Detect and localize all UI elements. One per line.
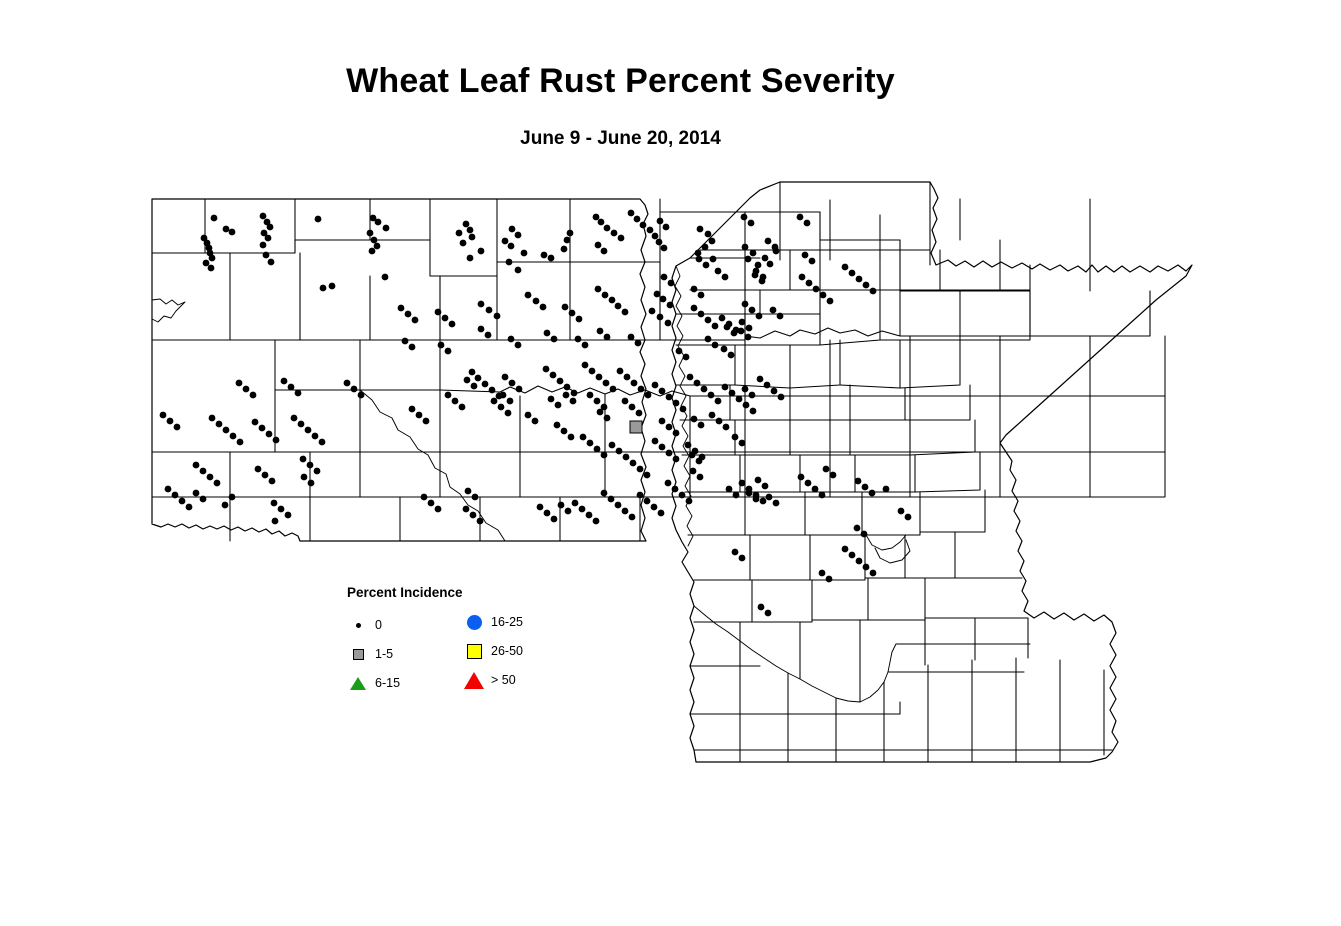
survey-point-zero xyxy=(551,336,558,343)
survey-point-zero xyxy=(658,510,665,517)
survey-point-zero xyxy=(728,352,735,359)
survey-point-zero xyxy=(805,480,812,487)
mn-county-line-n17 xyxy=(960,290,1030,340)
survey-point-zero xyxy=(412,317,419,324)
survey-point-zero xyxy=(358,392,365,399)
mn-county-line-n42 xyxy=(920,490,985,532)
survey-point-zero xyxy=(557,378,564,385)
survey-point-zero xyxy=(230,433,237,440)
survey-point-zero xyxy=(179,498,186,505)
survey-point-zero xyxy=(651,504,658,511)
survey-point-zero xyxy=(719,315,726,322)
survey-point-zero xyxy=(813,286,820,293)
survey-point-zero xyxy=(732,434,739,441)
survey-point-zero xyxy=(570,398,577,405)
survey-point-zero xyxy=(469,369,476,376)
survey-point-zero xyxy=(716,418,723,425)
nd-county-line-h35 xyxy=(520,452,605,497)
survey-point-zero xyxy=(745,256,752,263)
nd-county-line-h19 xyxy=(275,390,360,452)
survey-point-zero xyxy=(229,229,236,236)
survey-point-zero xyxy=(812,486,819,493)
survey-point-zero xyxy=(475,375,482,382)
survey-point-zero xyxy=(601,490,608,497)
survey-point-zero xyxy=(750,250,757,257)
legend-title: Percent Incidence xyxy=(347,585,577,600)
survey-point-zero xyxy=(771,388,778,395)
survey-point-zero xyxy=(635,340,642,347)
survey-point-zero xyxy=(611,230,618,237)
survey-point-zero xyxy=(521,250,528,257)
survey-point-zero xyxy=(467,255,474,262)
survey-point-zero xyxy=(459,404,466,411)
survey-point-zero xyxy=(456,230,463,237)
survey-point-zero xyxy=(409,406,416,413)
survey-point-zero xyxy=(746,325,753,332)
nd-county-line-h31 xyxy=(230,452,310,497)
survey-point-zero xyxy=(471,383,478,390)
survey-point-zero xyxy=(269,478,276,485)
survey-point-zero xyxy=(656,239,663,246)
survey-point-zero xyxy=(548,255,555,262)
survey-point-zero xyxy=(702,244,709,251)
survey-point-zero xyxy=(271,500,278,507)
survey-point-zero xyxy=(705,336,712,343)
survey-point-zero xyxy=(472,494,479,501)
survey-point-zero xyxy=(629,404,636,411)
survey-point-zero xyxy=(726,486,733,493)
survey-point-zero xyxy=(208,265,215,272)
survey-point-zero xyxy=(652,233,659,240)
survey-point-zero xyxy=(478,301,485,308)
mn-county-line-n49 xyxy=(694,580,752,622)
survey-point-zero xyxy=(640,222,647,229)
legend-item-over-50[interactable]: > 50 xyxy=(463,671,516,689)
survey-point-zero xyxy=(281,378,288,385)
legend-label-1-5: 1-5 xyxy=(375,647,393,661)
survey-point-zero xyxy=(435,506,442,513)
nd-county-line-h39 xyxy=(830,452,910,497)
survey-point-zero xyxy=(672,486,679,493)
mn-county-line-n27 xyxy=(905,385,970,420)
survey-point-zero xyxy=(266,431,273,438)
small-black-dot-icon xyxy=(347,623,369,628)
survey-point-zero xyxy=(698,422,705,429)
nd-county-line-h42 xyxy=(1090,452,1165,497)
survey-point-zero xyxy=(742,244,749,251)
survey-point-zero xyxy=(826,576,833,583)
survey-point-zero xyxy=(709,238,716,245)
nd-county-line-h26 xyxy=(830,396,910,452)
survey-point-zero xyxy=(298,421,305,428)
legend-label-over-50: > 50 xyxy=(491,673,516,687)
survey-point-zero xyxy=(374,243,381,250)
mn-county-line-n16 xyxy=(880,290,960,340)
survey-point-zero xyxy=(262,472,269,479)
survey-point-zero xyxy=(696,256,703,263)
survey-point-zero xyxy=(214,480,221,487)
survey-point-zero xyxy=(603,380,610,387)
survey-point-zero xyxy=(562,304,569,311)
survey-point-zero xyxy=(597,328,604,335)
survey-point-zero xyxy=(463,221,470,228)
survey-point-zero xyxy=(505,410,512,417)
survey-point-zero xyxy=(724,324,731,331)
survey-point-zero xyxy=(705,317,712,324)
nd-county-line-h30 xyxy=(152,452,230,497)
mn-county-line-n40 xyxy=(805,492,862,535)
survey-point-zero xyxy=(856,276,863,283)
survey-point-zero xyxy=(300,456,307,463)
survey-point-zero xyxy=(312,433,319,440)
survey-point-zero xyxy=(572,500,579,507)
mn-county-line-n29 xyxy=(735,420,790,455)
legend-item-16-25[interactable]: 16-25 xyxy=(463,613,523,631)
survey-point-zero xyxy=(753,496,760,503)
survey-point-zero xyxy=(673,430,680,437)
survey-point-zero xyxy=(207,474,214,481)
mn-county-line-n20 xyxy=(790,340,840,388)
gray-square-icon xyxy=(347,649,369,660)
survey-point-zero xyxy=(469,234,476,241)
survey-point-zero xyxy=(827,298,834,305)
survey-point-zero xyxy=(582,342,589,349)
survey-point-zero xyxy=(243,386,250,393)
survey-point-zero xyxy=(255,466,262,473)
map-legend: Percent Incidence 0 1-5 6-15 16-25 26-50 xyxy=(347,585,577,701)
survey-point-zero xyxy=(712,342,719,349)
legend-label-26-50: 26-50 xyxy=(491,644,523,658)
survey-point-zero xyxy=(307,462,314,469)
survey-point-zero xyxy=(498,404,505,411)
survey-point-zero xyxy=(604,225,611,232)
survey-point-zero xyxy=(586,512,593,519)
survey-point-zero xyxy=(863,282,870,289)
survey-point-zero xyxy=(739,555,746,562)
survey-point-zero xyxy=(442,315,449,322)
survey-point-zero xyxy=(770,307,777,314)
survey-point-zero xyxy=(618,235,625,242)
survey-point-zero xyxy=(506,259,513,266)
survey-point-zero xyxy=(200,496,207,503)
survey-point-zero xyxy=(601,452,608,459)
survey-point-zero xyxy=(223,427,230,434)
survey-point-zero xyxy=(691,305,698,312)
survey-point-zero xyxy=(203,260,210,267)
survey-point-zero xyxy=(485,332,492,339)
nd-missouri-lower xyxy=(360,390,505,541)
nd-state-outline xyxy=(152,199,648,541)
mn-county-line-n44 xyxy=(750,535,810,580)
survey-point-zero xyxy=(666,450,673,457)
survey-point-zero xyxy=(745,334,752,341)
survey-point-zero xyxy=(222,502,229,509)
survey-point-zero xyxy=(760,498,767,505)
survey-point-zero xyxy=(739,440,746,447)
survey-point-zero xyxy=(367,230,374,237)
survey-point-zero xyxy=(595,242,602,249)
survey-point-zero xyxy=(508,243,515,250)
survey-point-zero xyxy=(543,366,550,373)
survey-point-zero xyxy=(748,220,755,227)
survey-point-zero xyxy=(823,466,830,473)
survey-point-zero xyxy=(460,240,467,247)
survey-point-zero xyxy=(742,386,749,393)
survey-point-zero xyxy=(193,490,200,497)
survey-point-zero xyxy=(502,374,509,381)
survey-point-zero xyxy=(661,274,668,281)
survey-point-zero xyxy=(174,424,181,431)
survey-point-zero xyxy=(758,604,765,611)
legend-item-0[interactable]: 0 xyxy=(347,616,382,634)
survey-point-zero xyxy=(491,398,498,405)
survey-point-zero xyxy=(636,410,643,417)
survey-point-zero xyxy=(721,346,728,353)
survey-point-zero xyxy=(567,230,574,237)
survey-point-zero xyxy=(870,288,877,295)
nd-county-line-h1 xyxy=(152,212,660,276)
survey-point-zero xyxy=(905,514,912,521)
survey-point-zero xyxy=(200,468,207,475)
legend-item-1-5[interactable]: 1-5 xyxy=(347,645,393,663)
survey-point-zero xyxy=(691,416,698,423)
survey-point-zero xyxy=(804,220,811,227)
survey-point-zero xyxy=(160,412,167,419)
nd-county-line-h9 xyxy=(1030,291,1150,336)
survey-point-zero xyxy=(236,380,243,387)
survey-point-zero xyxy=(695,250,702,257)
survey-point-zero xyxy=(659,388,666,395)
nd-county-line-h12 xyxy=(690,340,745,396)
survey-point-zero xyxy=(667,302,674,309)
mn-county-line-n26 xyxy=(850,388,905,420)
mn-county-line-n31 xyxy=(850,420,910,455)
survey-point-zero xyxy=(855,478,862,485)
mn-county-line-n19 xyxy=(735,345,790,388)
mn-county-line-n12 xyxy=(760,290,820,314)
survey-point-zero xyxy=(757,376,764,383)
survey-point-zero xyxy=(172,492,179,499)
survey-point-zero xyxy=(278,506,285,513)
survey-point-zero xyxy=(694,380,701,387)
survey-point-zero xyxy=(320,285,327,292)
survey-point-zero xyxy=(701,386,708,393)
mn-county-line-n24 xyxy=(730,388,790,420)
survey-point-1-5 xyxy=(630,421,642,433)
survey-point-zero xyxy=(622,508,629,515)
survey-point-zero xyxy=(301,474,308,481)
survey-point-zero xyxy=(216,421,223,428)
survey-point-zero xyxy=(209,255,216,262)
nd-county-line-h34 xyxy=(440,452,520,497)
survey-point-zero xyxy=(438,342,445,349)
survey-point-zero xyxy=(723,424,730,431)
survey-point-zero xyxy=(564,384,571,391)
survey-point-zero xyxy=(537,504,544,511)
mn-county-line-n25 xyxy=(790,385,850,420)
survey-point-zero xyxy=(421,494,428,501)
survey-point-zero xyxy=(756,313,763,320)
survey-point-zero xyxy=(862,484,869,491)
survey-point-zero xyxy=(371,237,378,244)
survey-point-zero xyxy=(767,261,774,268)
survey-point-zero xyxy=(273,437,280,444)
survey-point-zero xyxy=(382,274,389,281)
survey-point-zero xyxy=(657,218,664,225)
mn-county-line-n22 xyxy=(900,340,960,388)
survey-point-zero xyxy=(587,440,594,447)
survey-point-zero xyxy=(652,438,659,445)
survey-point-zero xyxy=(409,344,416,351)
survey-point-zero xyxy=(722,274,729,281)
survey-point-zero xyxy=(561,428,568,435)
survey-point-zero xyxy=(470,512,477,519)
survey-point-zero xyxy=(608,496,615,503)
survey-point-zero xyxy=(676,348,683,355)
observation-points-categorized xyxy=(630,421,642,433)
survey-point-zero xyxy=(548,396,555,403)
survey-point-zero xyxy=(703,262,710,269)
survey-point-zero xyxy=(729,390,736,397)
survey-point-zero xyxy=(554,422,561,429)
survey-point-zero xyxy=(842,264,849,271)
nd-county-line-h16 xyxy=(1000,336,1090,396)
survey-point-zero xyxy=(665,320,672,327)
survey-point-zero xyxy=(561,246,568,253)
survey-point-zero xyxy=(423,418,430,425)
mn-county-line-n38 xyxy=(688,492,745,535)
survey-point-zero xyxy=(806,280,813,287)
survey-point-zero xyxy=(563,392,570,399)
survey-point-zero xyxy=(267,224,274,231)
survey-point-zero xyxy=(623,454,630,461)
mn-county-line-n37 xyxy=(915,452,980,492)
mn-county-line-n21 xyxy=(840,340,900,388)
map-page: Wheat Leaf Rust Percent Severity June 9 … xyxy=(0,0,1341,926)
yellow-square-icon xyxy=(463,644,485,659)
survey-point-zero xyxy=(576,316,583,323)
survey-point-zero xyxy=(749,307,756,314)
survey-point-zero xyxy=(544,510,551,517)
survey-point-zero xyxy=(661,245,668,252)
survey-point-zero xyxy=(465,488,472,495)
survey-point-zero xyxy=(344,380,351,387)
survey-point-zero xyxy=(849,270,856,277)
nd-county-line-h5 xyxy=(497,262,660,340)
survey-point-zero xyxy=(736,396,743,403)
survey-point-zero xyxy=(604,334,611,341)
survey-point-zero xyxy=(587,392,594,399)
mn-county-line-n10 xyxy=(940,265,1030,290)
survey-point-zero xyxy=(732,549,739,556)
survey-point-zero xyxy=(507,398,514,405)
survey-point-zero xyxy=(657,314,664,321)
survey-point-zero xyxy=(482,381,489,388)
survey-point-zero xyxy=(666,394,673,401)
survey-point-zero xyxy=(558,502,565,509)
nd-county-line-h33 xyxy=(360,452,440,497)
survey-point-zero xyxy=(288,384,295,391)
survey-point-zero xyxy=(550,372,557,379)
wheat-leaf-rust-map[interactable] xyxy=(0,0,1341,926)
survey-point-zero xyxy=(898,508,905,515)
survey-point-zero xyxy=(663,224,670,231)
survey-point-zero xyxy=(673,456,680,463)
survey-point-zero xyxy=(741,214,748,221)
survey-point-zero xyxy=(628,210,635,217)
survey-point-zero xyxy=(209,415,216,422)
mn-state-outline xyxy=(672,182,1192,762)
survey-point-zero xyxy=(687,374,694,381)
survey-point-zero xyxy=(685,442,692,449)
survey-point-zero xyxy=(731,330,738,337)
survey-point-zero xyxy=(598,219,605,226)
survey-point-zero xyxy=(489,387,496,394)
mn-county-line-n52 xyxy=(868,578,925,620)
survey-point-zero xyxy=(690,468,697,475)
survey-point-zero xyxy=(515,342,522,349)
survey-point-zero xyxy=(405,311,412,318)
survey-point-zero xyxy=(478,326,485,333)
legend-item-6-15[interactable]: 6-15 xyxy=(347,674,400,692)
mn-county-line-n45 xyxy=(810,535,865,580)
legend-label-16-25: 16-25 xyxy=(491,615,523,629)
survey-point-zero xyxy=(509,226,516,233)
survey-point-zero xyxy=(705,231,712,238)
survey-point-zero xyxy=(615,502,622,509)
legend-item-26-50[interactable]: 26-50 xyxy=(463,642,523,660)
survey-point-zero xyxy=(679,492,686,499)
mn-south-h2 xyxy=(690,702,900,714)
nd-county-line-h28 xyxy=(1000,396,1090,452)
survey-point-zero xyxy=(541,252,548,259)
mn-county-line-n7 xyxy=(690,250,790,290)
survey-point-zero xyxy=(594,398,601,405)
survey-point-zero xyxy=(463,506,470,513)
survey-point-zero xyxy=(319,439,326,446)
survey-point-zero xyxy=(452,398,459,405)
survey-point-zero xyxy=(516,386,523,393)
survey-point-zero xyxy=(697,226,704,233)
survey-point-zero xyxy=(593,518,600,525)
survey-point-zero xyxy=(819,492,826,499)
mn-county-line-n30 xyxy=(790,420,850,455)
survey-point-zero xyxy=(799,274,806,281)
survey-point-zero xyxy=(689,452,696,459)
survey-point-zero xyxy=(596,374,603,381)
survey-point-zero xyxy=(329,283,336,290)
survey-point-zero xyxy=(186,504,193,511)
red-triangle-icon xyxy=(463,672,485,689)
survey-point-zero xyxy=(515,232,522,239)
survey-point-zero xyxy=(654,291,661,298)
survey-point-zero xyxy=(628,334,635,341)
survey-point-zero xyxy=(555,402,562,409)
survey-point-zero xyxy=(631,380,638,387)
survey-point-zero xyxy=(644,472,651,479)
survey-point-zero xyxy=(647,227,654,234)
mn-county-line-n51 xyxy=(812,578,868,620)
survey-point-zero xyxy=(709,412,716,419)
survey-point-zero xyxy=(797,214,804,221)
survey-point-zero xyxy=(870,570,877,577)
survey-point-zero xyxy=(755,262,762,269)
survey-point-zero xyxy=(733,492,740,499)
survey-point-zero xyxy=(760,274,767,281)
mn-county-line-n50 xyxy=(752,580,812,622)
survey-point-zero xyxy=(464,377,471,384)
survey-point-zero xyxy=(629,514,636,521)
